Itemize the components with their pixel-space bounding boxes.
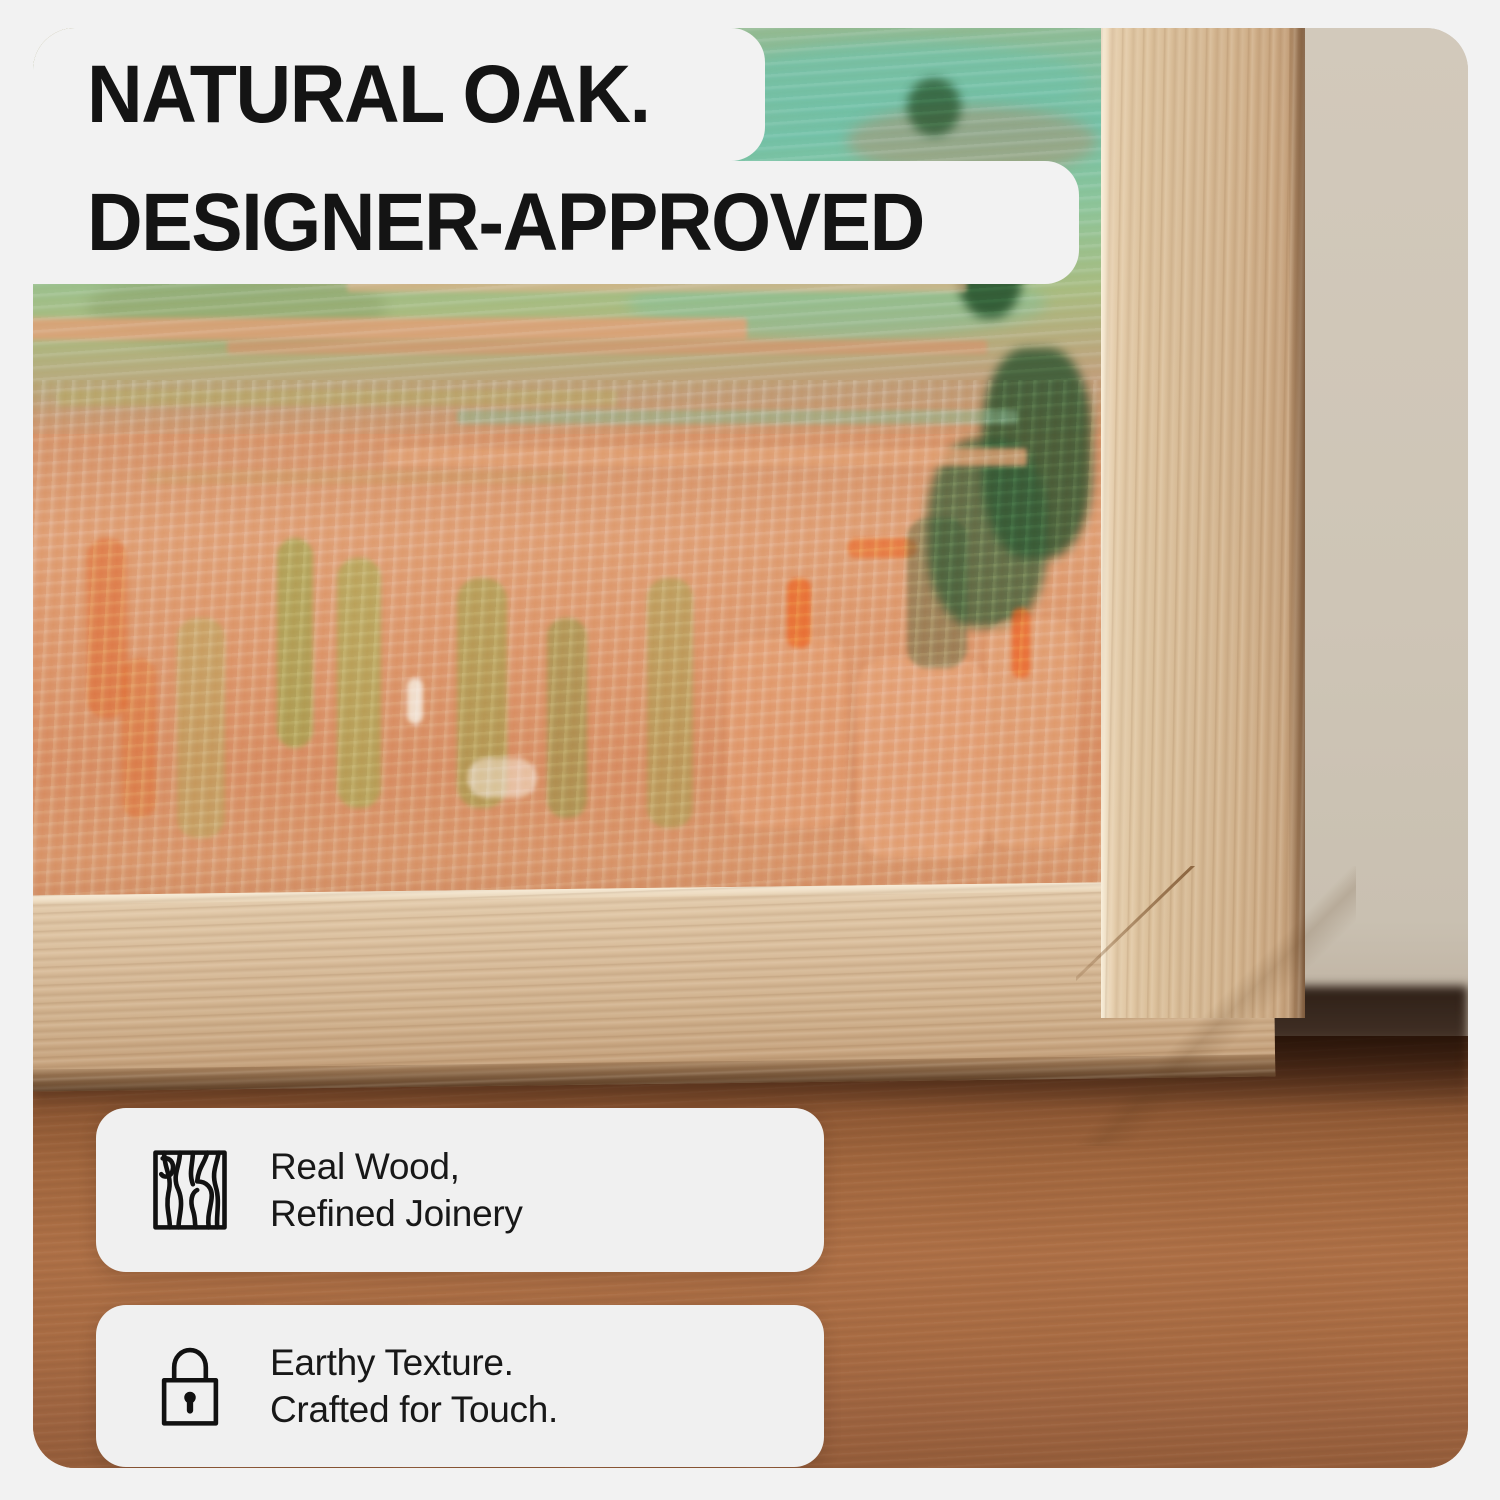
lock-icon (138, 1305, 242, 1467)
feature-badge-real-wood: Real Wood, Refined Joinery (96, 1108, 824, 1272)
badge2-line2: Crafted for Touch. (270, 1386, 558, 1433)
product-photo: NATURAL OAK. DESIGNER-APPROVED Re (33, 28, 1468, 1468)
badge-text-real-wood: Real Wood, Refined Joinery (270, 1143, 523, 1238)
headline-pill-line2: DESIGNER-APPROVED (33, 161, 1079, 284)
badge2-line1: Earthy Texture. (270, 1339, 558, 1386)
headline-pill-line1: NATURAL OAK. (33, 28, 765, 161)
wood-grain-icon (138, 1108, 242, 1272)
badge-text-earthy-texture: Earthy Texture. Crafted for Touch. (270, 1339, 558, 1434)
badge1-line2: Refined Joinery (270, 1190, 523, 1237)
headline-line2: DESIGNER-APPROVED (87, 182, 924, 264)
product-image-stage: NATURAL OAK. DESIGNER-APPROVED Re (0, 0, 1500, 1500)
frame-bottom-rail (33, 880, 1275, 1092)
frame-right-stile (1101, 28, 1305, 1018)
headline-line1: NATURAL OAK. (87, 54, 650, 136)
badge1-line1: Real Wood, (270, 1143, 523, 1190)
feature-badge-earthy-texture: Earthy Texture. Crafted for Touch. (96, 1305, 824, 1467)
